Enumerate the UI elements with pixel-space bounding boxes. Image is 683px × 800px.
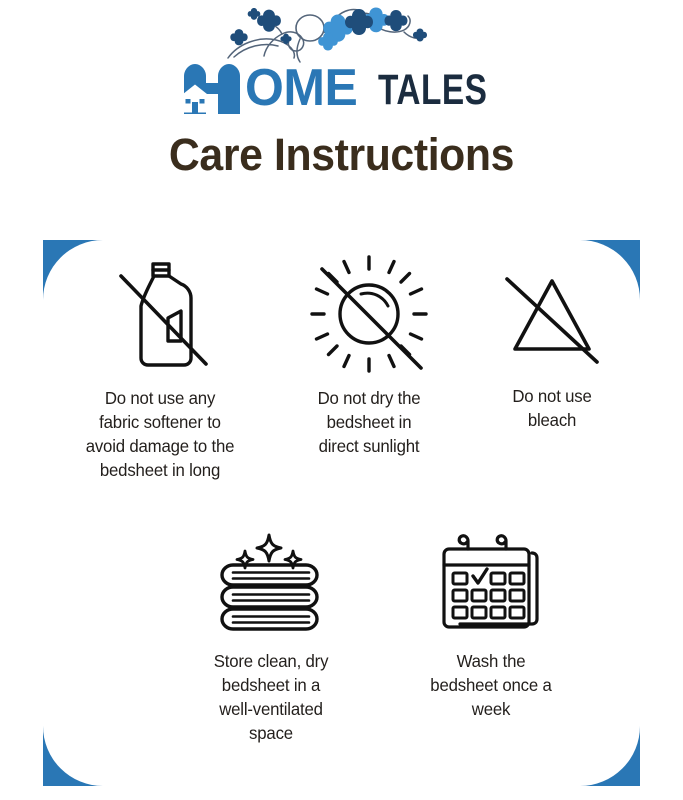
logo-text-ome: OME bbox=[245, 64, 357, 114]
care-item-caption: Do not use bleach bbox=[479, 384, 625, 432]
care-item-no-direct-sunlight: Do not dry the bedsheet in direct sunlig… bbox=[280, 248, 458, 458]
house-letter-h-icon bbox=[181, 58, 243, 114]
logo-wordmark: OME TALES bbox=[0, 56, 683, 114]
detergent-bottle-crossed-out-icon bbox=[105, 248, 215, 380]
page-title: Care Instructions bbox=[17, 129, 666, 181]
brand-logo: OME TALES bbox=[0, 4, 683, 114]
care-instructions-infographic: OME TALES Care Instructions bbox=[0, 0, 683, 800]
care-item-caption: Store clean, dry bedsheet in a well-vent… bbox=[185, 649, 356, 746]
care-item-caption: Do not use any fabric softener to avoid … bbox=[64, 386, 256, 483]
care-item-caption: Do not dry the bedsheet in direct sunlig… bbox=[283, 386, 454, 458]
care-item-wash-weekly: Wash the bedsheet once a week bbox=[402, 525, 580, 721]
calendar-check-icon bbox=[436, 525, 546, 643]
bleach-triangle-crossed-out-icon bbox=[497, 248, 607, 380]
folded-towels-sparkle-icon bbox=[211, 525, 331, 643]
care-instructions-row-2: Store clean, dry bedsheet in a well-vent… bbox=[43, 483, 640, 746]
care-item-no-fabric-softener: Do not use any fabric softener to avoid … bbox=[60, 248, 260, 483]
sun-crossed-out-icon bbox=[309, 248, 429, 380]
logo-text-tales: TALES bbox=[378, 69, 487, 112]
care-item-store-clean-dry: Store clean, dry bedsheet in a well-vent… bbox=[182, 525, 360, 746]
care-item-caption: Wash the bedsheet once a week bbox=[405, 649, 576, 721]
care-instructions-row-1: Do not use any fabric softener to avoid … bbox=[43, 240, 640, 483]
care-item-no-bleach: Do not use bleach bbox=[476, 248, 628, 432]
care-instructions-grid: Do not use any fabric softener to avoid … bbox=[43, 240, 640, 786]
